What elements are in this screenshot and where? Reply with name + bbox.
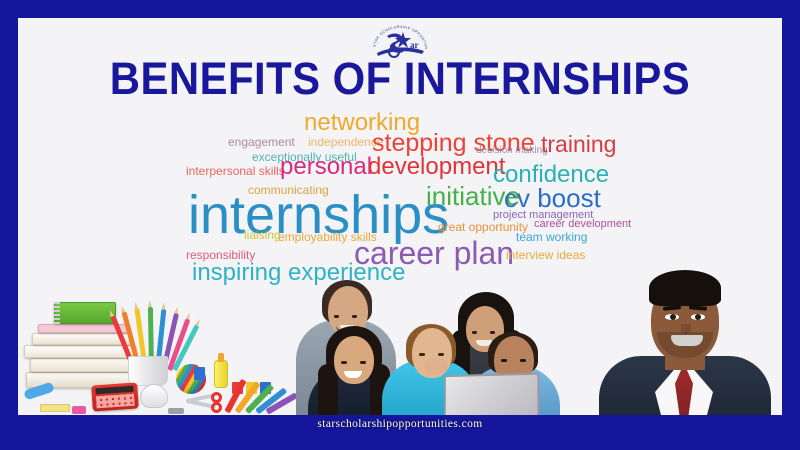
hair <box>649 270 721 306</box>
eye-right <box>691 314 705 320</box>
calculator <box>91 382 139 411</box>
wordcloud-word: cv boost <box>504 185 601 211</box>
eraser-pink <box>72 406 86 414</box>
wordcloud-word: liaising <box>244 229 281 241</box>
students-group-photo <box>290 242 570 432</box>
watermark-url: starscholarshipopportunities.com <box>18 418 782 430</box>
pencil-cup <box>128 356 168 386</box>
book-2 <box>30 358 138 372</box>
glue-cap <box>218 353 224 362</box>
glue-bottle <box>214 360 228 388</box>
photo-collage <box>18 242 782 432</box>
page-title: BENEFITS OF INTERNSHIPS <box>45 56 756 102</box>
school-supplies-photo <box>18 253 296 418</box>
businessman-portrait-photo <box>593 250 778 432</box>
wordcloud-word: training <box>541 133 616 156</box>
wordcloud-word: interpersonal skills <box>186 165 285 177</box>
notebook-spiral <box>54 302 60 324</box>
book-3 <box>24 345 136 358</box>
sticky-note <box>40 404 70 412</box>
wordcloud-word: personal <box>280 155 372 179</box>
paint-pot-blue <box>194 367 205 380</box>
eye-left <box>665 314 679 320</box>
computer-mouse <box>140 384 168 408</box>
wordcloud-word: career development <box>534 219 631 230</box>
notebook-green <box>54 302 116 324</box>
poster-root: STAR SCHOLARSHIP OPPORTUNITIES ar BENEFI… <box>0 0 800 450</box>
wordcloud-word: engagement <box>228 136 295 148</box>
wordcloud-word: great opportunity <box>438 221 528 233</box>
wordcloud-word: development <box>368 155 505 179</box>
scissors <box>186 392 222 412</box>
stapler <box>168 408 184 414</box>
poster-canvas: STAR SCHOLARSHIP OPPORTUNITIES ar BENEFI… <box>18 18 782 432</box>
